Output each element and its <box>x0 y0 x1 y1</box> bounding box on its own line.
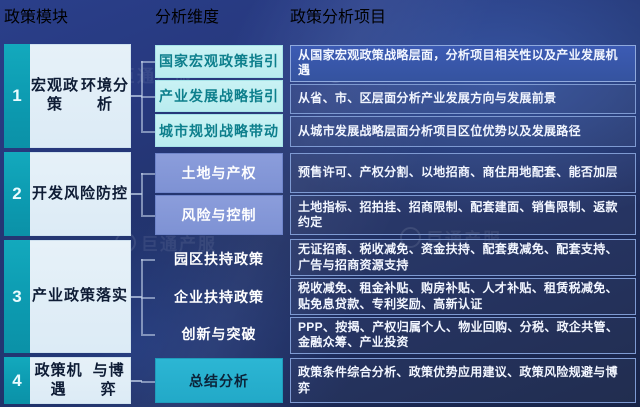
dimension-cell[interactable]: 城市规划战略带动 <box>155 114 283 147</box>
branch-connector <box>131 152 155 236</box>
dimension-column: 土地与产权风险与控制 <box>155 152 283 236</box>
analysis-item-cell: 从城市发展战略层面分析项目区位优势以及发展路径 <box>290 116 636 147</box>
dimension-cell[interactable]: 总结分析 <box>155 358 283 403</box>
analysis-item-cell: 从国家宏观政策战略层面，分析项目相关性以及产业发展机遇 <box>290 45 636 82</box>
table-row: 4政策机遇与博弈总结分析政策条件综合分析、政策优势应用建议、政策风险规避与博弈 <box>0 357 640 404</box>
analysis-item-cell: 无证招商、税收减免、资金扶持、配套费减免、配套支持、广告与招商资源支持 <box>290 239 636 276</box>
row-index-badge: 2 <box>4 152 30 236</box>
analysis-item-cell: 税收减免、租金补贴、购房补贴、人才补贴、租赁税减免、贴免息贷款、专利奖励、高新认… <box>290 278 636 315</box>
items-column: 从国家宏观政策战略层面，分析项目相关性以及产业发展机遇从省、市、区层面分析产业发… <box>290 44 636 148</box>
items-column: 政策条件综合分析、政策优势应用建议、政策风险规避与博弈 <box>290 357 636 404</box>
table-row: 3产业政策落实园区扶持政策企业扶持政策创新与突破无证招商、税收减免、资金扶持、配… <box>0 240 640 353</box>
table-row: 1宏观政策环境分析国家宏观政策指引产业发展战略指引城市规划战略带动从国家宏观政策… <box>0 44 640 148</box>
module-name-cell: 宏观政策环境分析 <box>30 44 131 148</box>
dimension-column: 总结分析 <box>155 357 283 404</box>
analysis-item-cell: 政策条件综合分析、政策优势应用建议、政策风险规避与博弈 <box>290 358 636 403</box>
dimension-column: 国家宏观政策指引产业发展战略指引城市规划战略带动 <box>155 44 283 148</box>
branch-connector <box>131 44 155 148</box>
policy-analysis-table: 巨通产服 巨通产服 巨通产服 巨通产服 巨通产服 政策模块 分析维度 政策分析项… <box>0 0 640 407</box>
items-column: 预售许可、产权分割、以地招商、商住用地配套、能否加层土地指标、招拍挂、招商限制、… <box>290 152 636 236</box>
branch-connector <box>131 240 155 353</box>
header-cell-module: 政策模块 <box>4 3 131 39</box>
items-column: 无证招商、税收减免、资金扶持、配套费减免、配套支持、广告与招商资源支持税收减免、… <box>290 240 636 353</box>
dimension-cell[interactable]: 土地与产权 <box>155 153 283 193</box>
row-index-badge: 3 <box>4 240 30 353</box>
header-cell-dimension: 分析维度 <box>155 3 283 39</box>
dimension-cell[interactable]: 产业发展战略指引 <box>155 80 283 113</box>
dimension-cell[interactable]: 园区扶持政策 <box>155 241 283 277</box>
dimension-cell[interactable]: 创新与突破 <box>155 316 283 352</box>
module-name-cell: 政策机遇与博弈 <box>30 357 131 404</box>
dimension-cell[interactable]: 国家宏观政策指引 <box>155 45 283 78</box>
analysis-item-cell: 预售许可、产权分割、以地招商、商住用地配套、能否加层 <box>290 153 636 193</box>
analysis-item-cell: PPP、按揭、产权归属个人、物业回购、分税、政企共管、金融众筹、产业投资 <box>290 317 636 354</box>
table-row: 2开发风险防控土地与产权风险与控制预售许可、产权分割、以地招商、商住用地配套、能… <box>0 152 640 236</box>
module-name-cell: 产业政策落实 <box>30 240 131 353</box>
row-index-badge: 4 <box>4 357 30 404</box>
module-name-cell: 开发风险防控 <box>30 152 131 236</box>
row-index-badge: 1 <box>4 44 30 148</box>
analysis-item-cell: 土地指标、招拍挂、招商限制、配套建面、销售限制、返款约定 <box>290 195 636 235</box>
dimension-cell[interactable]: 企业扶持政策 <box>155 279 283 315</box>
branch-connector <box>131 357 155 404</box>
header-cell-items: 政策分析项目 <box>290 3 636 39</box>
dimension-column: 园区扶持政策企业扶持政策创新与突破 <box>155 240 283 353</box>
dimension-cell[interactable]: 风险与控制 <box>155 195 283 235</box>
analysis-item-cell: 从省、市、区层面分析产业发展方向与发展前景 <box>290 84 636 115</box>
